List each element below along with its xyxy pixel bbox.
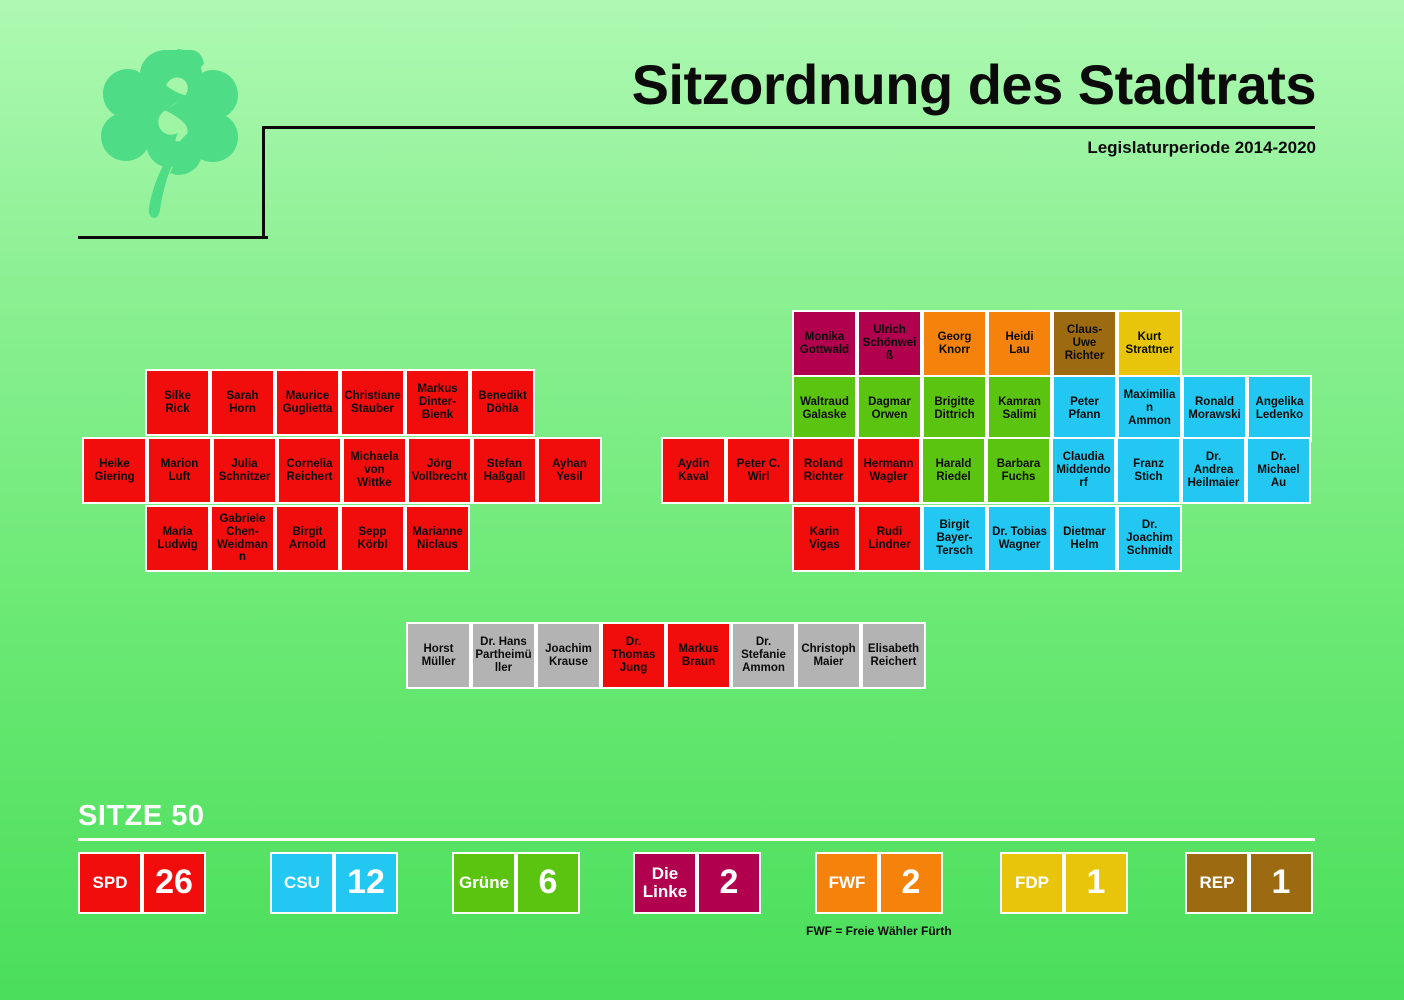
legend-divider-rule [78, 838, 1315, 841]
legend-item[interactable]: SPD26 [78, 852, 206, 914]
fwf-footnote: FWF = Freie Wähler Fürth [806, 924, 952, 938]
legend-party-name: FDP [1000, 852, 1064, 914]
legend-party-count: 26 [142, 852, 206, 914]
legend-party-name: DieLinke [633, 852, 697, 914]
legend-item[interactable]: CSU12 [270, 852, 398, 914]
legend-item[interactable]: DieLinke2 [633, 852, 761, 914]
legend-party-name: SPD [78, 852, 142, 914]
legend-item[interactable]: Grüne6 [452, 852, 580, 914]
legend-party-name: FWF [815, 852, 879, 914]
legend-party-count: 12 [334, 852, 398, 914]
legend-item[interactable]: FDP1 [1000, 852, 1128, 914]
legend-item[interactable]: FWF2 [815, 852, 943, 914]
total-seats-label: SITZE 50 [78, 800, 205, 833]
legend-party-name: CSU [270, 852, 334, 914]
legend-party-count: 1 [1249, 852, 1313, 914]
legend-party-count: 2 [879, 852, 943, 914]
legend-party-count: 1 [1064, 852, 1128, 914]
legend-party-name: REP [1185, 852, 1249, 914]
legend-item[interactable]: REP1 [1185, 852, 1313, 914]
legend-party-name: Grüne [452, 852, 516, 914]
seat-legend: SITZE 50 FWF = Freie Wähler Fürth SPD26C… [0, 0, 1404, 1000]
legend-party-count: 6 [516, 852, 580, 914]
legend-party-count: 2 [697, 852, 761, 914]
